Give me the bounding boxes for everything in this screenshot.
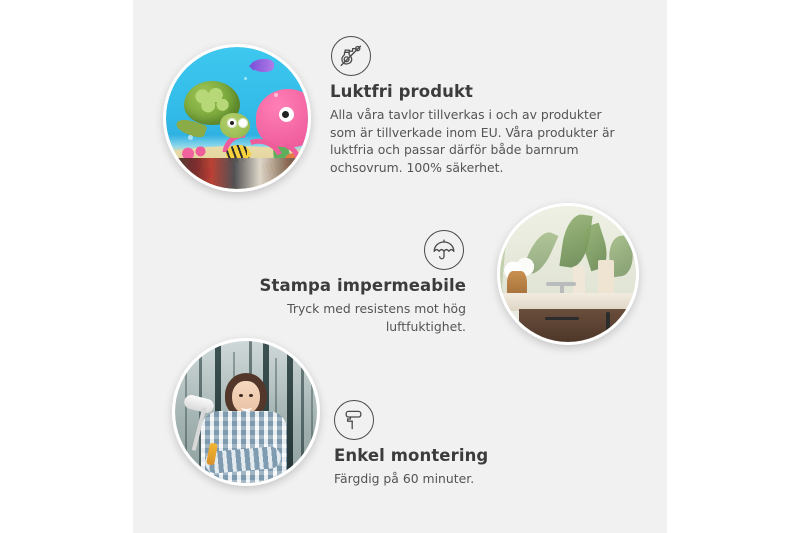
feature-easy-mounting: Enkel montering Färgdig på 60 minuter. bbox=[334, 400, 594, 488]
feature-description: Tryck med resistens mot hög luftfuktighe… bbox=[218, 300, 466, 335]
feature-waterproof: Stampa impermeabile Tryck med resistens … bbox=[218, 230, 466, 335]
photo-painter-scene-inner bbox=[175, 341, 317, 483]
product-feature-infographic: Luktfri produkt Alla våra tavlor tillver… bbox=[0, 0, 800, 533]
feature-title: Stampa impermeabile bbox=[218, 277, 466, 296]
tree bbox=[311, 364, 313, 483]
cabinet-handle bbox=[606, 312, 610, 342]
woman-eye bbox=[249, 394, 253, 397]
bubble bbox=[188, 135, 193, 140]
woman-face bbox=[232, 381, 260, 414]
bubble bbox=[244, 77, 247, 80]
feature-odour-free: Luktfri produkt Alla våra tavlor tillver… bbox=[330, 36, 628, 176]
feature-description: Alla våra tavlor tillverkas i och av pro… bbox=[330, 106, 628, 176]
turtle-eye bbox=[230, 121, 234, 125]
tree bbox=[287, 341, 293, 483]
umbrella-icon bbox=[424, 230, 464, 270]
tree bbox=[301, 347, 304, 483]
paint-roller-icon bbox=[334, 400, 374, 440]
fish-purple-icon bbox=[252, 59, 274, 72]
turtle-eye bbox=[241, 121, 245, 125]
no-odour-spray-bottle-icon bbox=[331, 36, 371, 76]
sea-scene-foreground-strip bbox=[166, 158, 308, 189]
photo-bathroom-scene bbox=[497, 203, 639, 345]
feature-title: Enkel montering bbox=[334, 447, 594, 466]
photo-bathroom-scene-inner bbox=[500, 206, 636, 342]
photo-painter-scene bbox=[172, 338, 320, 486]
vanity-cabinet bbox=[519, 309, 636, 342]
turtle-head bbox=[220, 113, 250, 138]
bubble bbox=[274, 93, 278, 97]
feature-title: Luktfri produkt bbox=[330, 83, 628, 102]
countertop bbox=[500, 293, 636, 311]
photo-sea-scene bbox=[163, 44, 311, 192]
feature-description: Färgdig på 60 minuter. bbox=[334, 470, 594, 488]
octopus-eye bbox=[279, 107, 294, 122]
woman-eye bbox=[239, 394, 243, 397]
photo-sea-scene-inner bbox=[166, 47, 308, 189]
cabinet-handle bbox=[545, 317, 579, 320]
woman-smile bbox=[241, 403, 252, 411]
tree bbox=[185, 347, 187, 483]
